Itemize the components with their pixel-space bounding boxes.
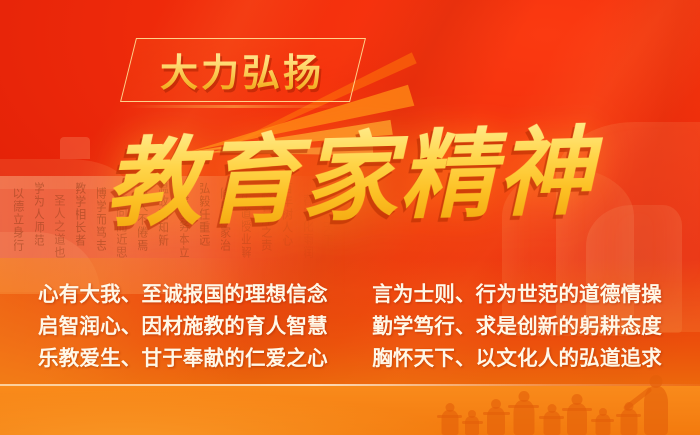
silhouette-arm — [483, 412, 510, 415]
child-silhouette — [487, 399, 505, 435]
child-silhouette — [595, 408, 610, 435]
silhouette-body — [595, 414, 610, 435]
silhouette-arm — [616, 414, 642, 417]
phrase-left: 心有大我、至诚报国的理想信念 — [38, 277, 328, 307]
teacher-silhouette — [643, 375, 669, 435]
phrase-row: 启智润心、因材施教的育人智慧勤学笃行、求是创新的躬耕态度 — [38, 308, 662, 340]
child-silhouette — [567, 394, 587, 435]
page-title: 教育家精神 — [0, 119, 700, 238]
phrase-row: 心有大我、至诚报国的理想信念言为士则、行为世范的道德情操 — [38, 276, 662, 308]
silhouette-arm — [508, 405, 540, 408]
silhouette-arm — [539, 416, 565, 419]
phrase-left: 启智润心、因材施教的育人智慧 — [38, 309, 328, 339]
silhouette-body — [465, 416, 479, 435]
child-silhouette — [465, 410, 479, 435]
child-silhouette — [441, 403, 458, 435]
silhouette-arm — [591, 419, 614, 422]
silhouette-arm — [437, 415, 463, 418]
child-silhouette — [543, 404, 560, 435]
silhouette-body — [441, 410, 458, 435]
silhouette-arm — [462, 421, 483, 424]
eyebrow-text: 大力弘扬 — [128, 38, 356, 100]
phrase-block: 心有大我、至诚报国的理想信念言为士则、行为世范的道德情操启智润心、因材施教的育人… — [38, 276, 662, 372]
phrase-right: 胸怀天下、以文化人的弘道追求 — [372, 341, 662, 371]
child-silhouette — [513, 391, 534, 435]
phrase-left: 乐教爱生、甘于奉献的仁爱之心 — [38, 341, 328, 371]
poster-banner: 以德立身行学为人师范圣人之道也教学相长者博学而笃志切问而近思诲人不倦焉温故而知新… — [0, 0, 700, 435]
teacher-and-children-silhouette-icon — [435, 369, 700, 435]
silhouette-body — [543, 411, 560, 435]
phrase-row: 乐教爱生、甘于奉献的仁爱之心胸怀天下、以文化人的弘道追求 — [38, 340, 662, 372]
silhouette-arm — [562, 408, 592, 411]
phrase-right: 勤学笃行、求是创新的躬耕态度 — [372, 309, 662, 339]
phrase-right: 言为士则、行为世范的道德情操 — [372, 277, 662, 307]
silhouette-body — [620, 409, 637, 435]
